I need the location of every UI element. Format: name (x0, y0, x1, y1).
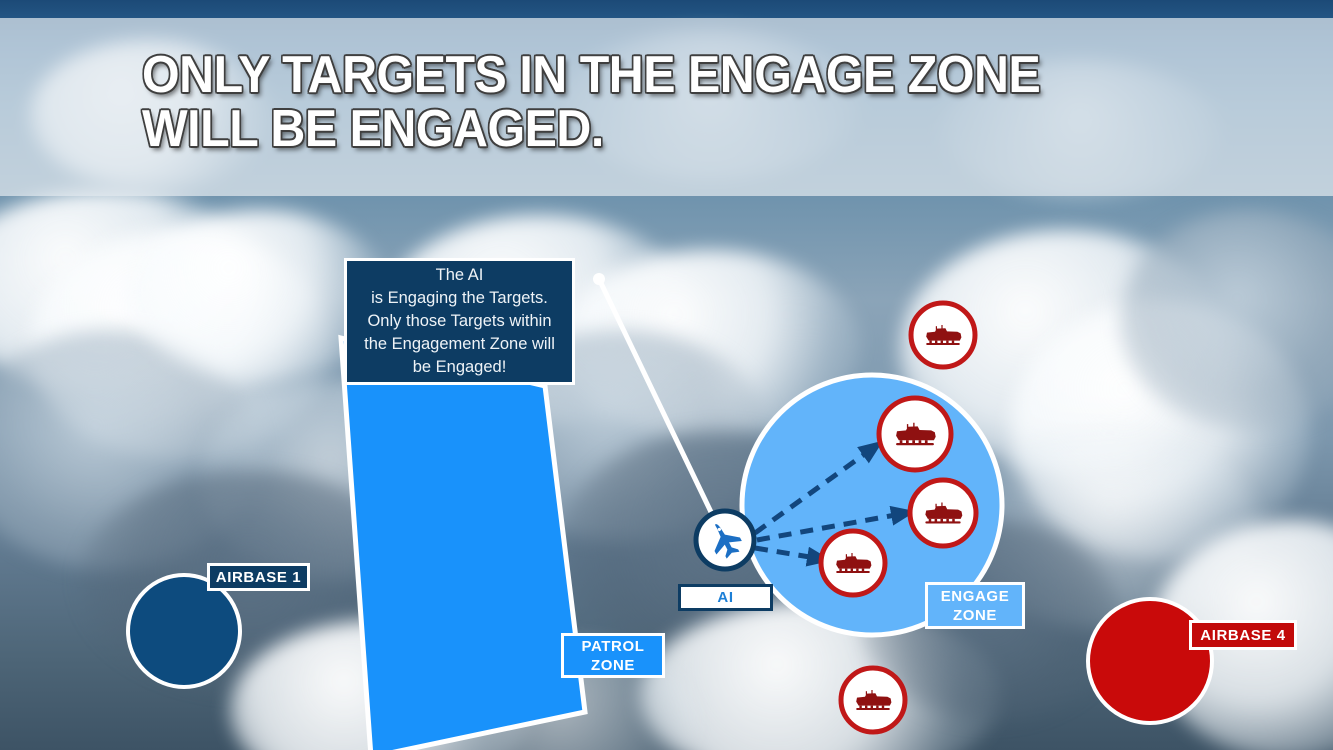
tank-icon[interactable] (841, 668, 905, 732)
airbase-4-label[interactable]: AIRBASE 4 (1189, 620, 1297, 650)
airbase-1-marker[interactable] (128, 575, 240, 687)
tank-icon[interactable] (879, 398, 951, 470)
map-overlay (0, 0, 1333, 750)
airbase-4-marker[interactable] (1088, 599, 1212, 723)
slide-canvas: ONLY TARGETS IN THE ENGAGE ZONE WILL BE … (0, 0, 1333, 750)
fighter-jet-icon[interactable] (696, 511, 754, 569)
airbase-1-label[interactable]: AIRBASE 1 (207, 563, 310, 591)
callout-box: The AI is Engaging the Targets. Only tho… (344, 258, 575, 385)
callout-leader-line (599, 279, 723, 537)
callout-leader-dot (593, 273, 605, 285)
engage-zone-label[interactable]: ENGAGE ZONE (925, 582, 1025, 629)
tank-icon[interactable] (821, 531, 885, 595)
patrol-zone-shape[interactable] (341, 338, 585, 750)
ai-aircraft-label[interactable]: AI (678, 584, 773, 611)
patrol-zone-label[interactable]: PATROL ZONE (561, 633, 665, 678)
tank-icon[interactable] (911, 303, 975, 367)
tank-icon[interactable] (910, 480, 976, 546)
